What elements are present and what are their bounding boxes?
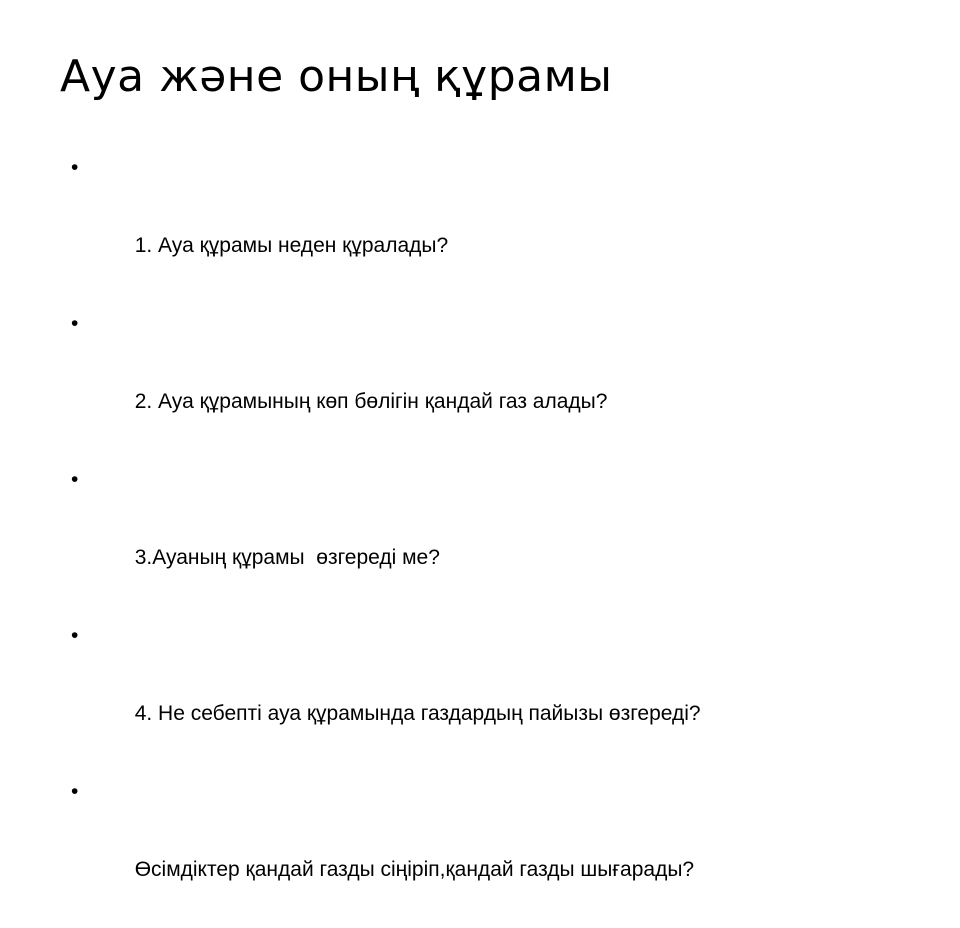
list-item: • 1. Ауа құрамы неден құралады?: [62, 148, 912, 304]
slide-body: • 1. Ауа құрамы неден құралады? • 2. Ауа…: [62, 148, 912, 928]
bullet-point-icon: •: [71, 148, 83, 187]
bullet-point-icon: •: [71, 616, 83, 655]
list-item: • 4. Не себепті ауа құрамында газдардың …: [62, 616, 912, 772]
list-item-label: 3.Ауаның құрамы өзгереді ме?: [135, 546, 440, 569]
list-item: • 3.Ауаның құрамы өзгереді ме?: [62, 460, 912, 616]
list-item-label: 2. Ауа құрамының көп бөлігін қандай газ …: [135, 390, 608, 413]
page-title: Ауа және оның құрамы: [60, 52, 900, 101]
list-item-label: Өсімдіктер қандай газды сіңіріп,қандай г…: [135, 858, 694, 881]
bullet-point-icon: •: [71, 460, 83, 499]
slide-canvas: Ауа және оның құрамы • 1. Ауа құрамы нед…: [0, 0, 960, 540]
bullet-list: • 1. Ауа құрамы неден құралады? • 2. Ауа…: [62, 148, 912, 928]
list-item: • Өсімдіктер қандай газды сіңіріп,қандай…: [62, 772, 912, 928]
list-item: • 2. Ауа құрамының көп бөлігін қандай га…: [62, 304, 912, 460]
bullet-point-icon: •: [71, 772, 83, 811]
list-item-label: 1. Ауа құрамы неден құралады?: [135, 234, 449, 257]
list-item-label: 4. Не себепті ауа құрамында газдардың па…: [135, 702, 701, 725]
bullet-point-icon: •: [71, 304, 83, 343]
